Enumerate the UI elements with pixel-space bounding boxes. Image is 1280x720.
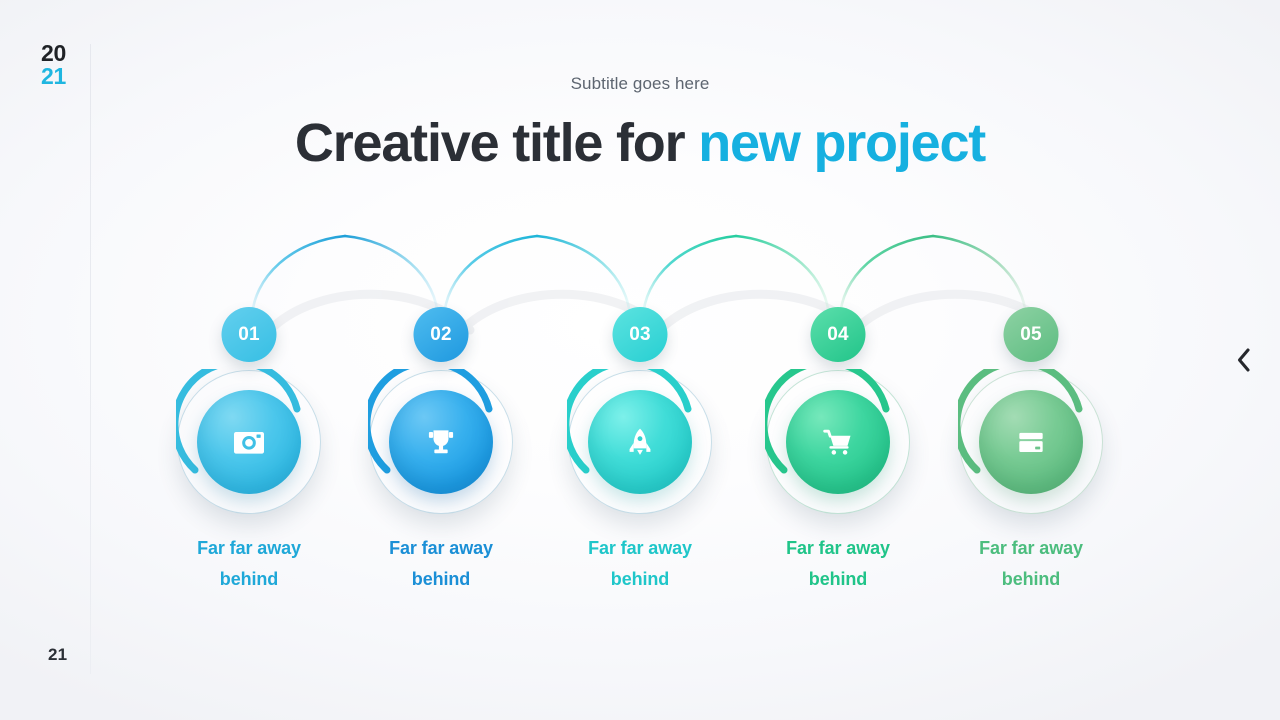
step-number: 02 (430, 324, 452, 346)
step-number: 01 (238, 324, 260, 346)
credit-card-icon (1011, 422, 1051, 462)
caption-line-1: Far far away (931, 533, 1131, 564)
orb-sphere (979, 390, 1083, 494)
step-badge[interactable]: 01 (222, 307, 277, 362)
step-number: 04 (827, 324, 849, 346)
process-diagram: 01 Far far away behind 02 (0, 0, 1280, 720)
caption-line-2: behind (341, 564, 541, 595)
page-title: Creative title for new project (0, 112, 1280, 174)
slide-subtitle: Subtitle goes here (0, 74, 1280, 94)
page-number: 21 (48, 645, 67, 665)
step-icon-orb[interactable] (368, 369, 514, 515)
step-badge[interactable]: 02 (414, 307, 469, 362)
chevron-left-icon (1235, 347, 1252, 373)
step-caption: Far far away behind (540, 533, 740, 595)
title-main: Creative title for (295, 113, 685, 173)
step-badge[interactable]: 03 (613, 307, 668, 362)
caption-line-2: behind (931, 564, 1131, 595)
step-caption: Far far away behind (149, 533, 349, 595)
caption-line-1: Far far away (540, 533, 740, 564)
step-badge[interactable]: 05 (1004, 307, 1059, 362)
caption-line-2: behind (540, 564, 740, 595)
shopping-cart-icon (818, 422, 858, 462)
step-caption: Far far away behind (931, 533, 1131, 595)
step-caption: Far far away behind (341, 533, 541, 595)
step-icon-orb[interactable] (567, 369, 713, 515)
rocket-icon (620, 422, 660, 462)
caption-line-1: Far far away (341, 533, 541, 564)
caption-line-1: Far far away (149, 533, 349, 564)
step-icon-orb[interactable] (765, 369, 911, 515)
step-icon-orb[interactable] (958, 369, 1104, 515)
step-number: 03 (629, 324, 651, 346)
step-icon-orb[interactable] (176, 369, 322, 515)
caption-line-2: behind (738, 564, 938, 595)
step-number: 05 (1020, 324, 1042, 346)
orb-sphere (786, 390, 890, 494)
step-badge[interactable]: 04 (811, 307, 866, 362)
orb-sphere (197, 390, 301, 494)
trophy-icon (421, 422, 461, 462)
year-top: 20 (41, 42, 66, 65)
orb-sphere (389, 390, 493, 494)
camera-icon (229, 422, 269, 462)
orb-sphere (588, 390, 692, 494)
caption-line-1: Far far away (738, 533, 938, 564)
caption-line-2: behind (149, 564, 349, 595)
step-caption: Far far away behind (738, 533, 938, 595)
title-accent: new project (698, 113, 985, 173)
previous-slide-button[interactable] (1228, 345, 1258, 375)
